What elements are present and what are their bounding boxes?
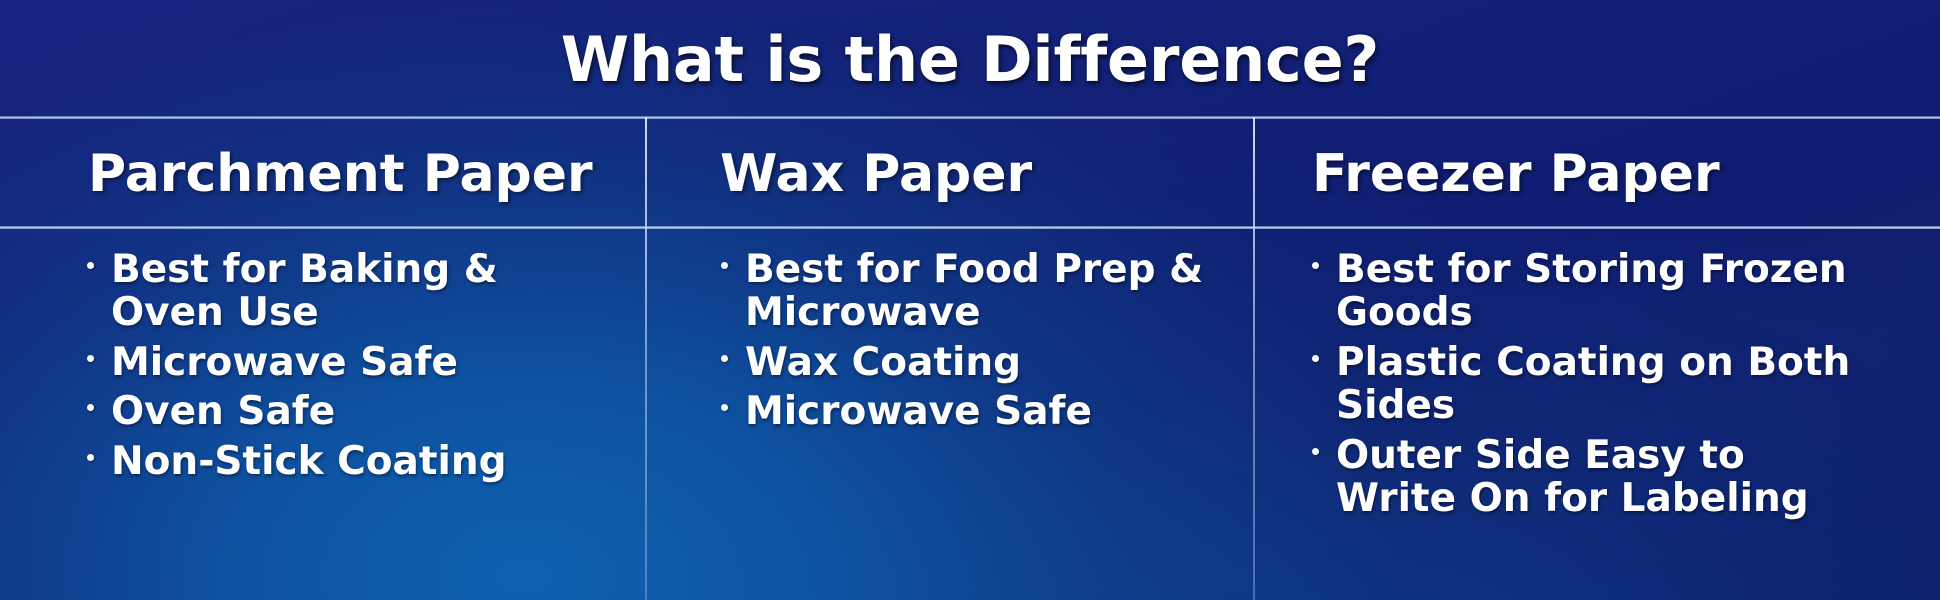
list-item: Best for Baking & Oven Use bbox=[84, 248, 584, 335]
bullet-dot-icon bbox=[87, 262, 94, 269]
bullet-dot-icon bbox=[1312, 448, 1319, 455]
bullet-dot-icon bbox=[721, 355, 728, 362]
comparison-table: Parchment Paper Best for Baking & Oven U… bbox=[0, 117, 1940, 600]
list-item: Oven Safe bbox=[84, 390, 584, 433]
table-column-freezer-paper: Freezer Paper Best for Storing Frozen Go… bbox=[1254, 117, 1940, 600]
list-item: Outer Side Easy to Write On for Labeling bbox=[1309, 434, 1869, 521]
list-item-label: Microwave Safe bbox=[111, 341, 584, 384]
list-item-label: Best for Baking & Oven Use bbox=[111, 248, 584, 335]
list-item: Best for Storing Frozen Goods bbox=[1309, 248, 1869, 335]
list-item-label: Non-Stick Coating bbox=[111, 440, 584, 483]
list-item: Microwave Safe bbox=[718, 390, 1218, 433]
bullet-dot-icon bbox=[721, 404, 728, 411]
bullet-list-wax-paper: Best for Food Prep & Microwave Wax Coati… bbox=[646, 226, 1254, 434]
bullet-list-freezer-paper: Best for Storing Frozen Goods Plastic Co… bbox=[1254, 226, 1940, 521]
column-header-wax-paper: Wax Paper bbox=[720, 148, 1032, 200]
bullet-dot-icon bbox=[87, 355, 94, 362]
bullet-dot-icon bbox=[721, 262, 728, 269]
table-column-wax-paper: Wax Paper Best for Food Prep & Microwave… bbox=[646, 117, 1254, 600]
column-header-cell: Wax Paper bbox=[646, 117, 1254, 226]
list-item: Best for Food Prep & Microwave bbox=[718, 248, 1218, 335]
list-item-label: Best for Food Prep & Microwave bbox=[745, 248, 1218, 335]
list-item-label: Microwave Safe bbox=[745, 390, 1218, 433]
list-item-label: Oven Safe bbox=[111, 390, 584, 433]
comparison-slide: What is the Difference? Parchment Paper … bbox=[0, 0, 1940, 600]
list-item: Wax Coating bbox=[718, 341, 1218, 384]
list-item-label: Outer Side Easy to Write On for Labeling bbox=[1336, 434, 1869, 521]
list-item-label: Wax Coating bbox=[745, 341, 1218, 384]
bullet-dot-icon bbox=[87, 404, 94, 411]
list-item-label: Best for Storing Frozen Goods bbox=[1336, 248, 1869, 335]
list-item: Plastic Coating on Both Sides bbox=[1309, 341, 1869, 428]
column-header-parchment-paper: Parchment Paper bbox=[88, 148, 593, 200]
column-header-freezer-paper: Freezer Paper bbox=[1312, 148, 1720, 200]
table-column-parchment-paper: Parchment Paper Best for Baking & Oven U… bbox=[0, 117, 646, 600]
page-title: What is the Difference? bbox=[561, 29, 1379, 91]
slide-title-bar: What is the Difference? bbox=[0, 0, 1940, 117]
list-item-label: Plastic Coating on Both Sides bbox=[1336, 341, 1869, 428]
bullet-dot-icon bbox=[1312, 355, 1319, 362]
list-item: Microwave Safe bbox=[84, 341, 584, 384]
column-header-cell: Freezer Paper bbox=[1254, 117, 1940, 226]
bullet-dot-icon bbox=[1312, 262, 1319, 269]
bullet-dot-icon bbox=[87, 454, 94, 461]
bullet-list-parchment-paper: Best for Baking & Oven Use Microwave Saf… bbox=[0, 226, 646, 483]
list-item: Non-Stick Coating bbox=[84, 440, 584, 483]
column-header-cell: Parchment Paper bbox=[0, 117, 646, 226]
